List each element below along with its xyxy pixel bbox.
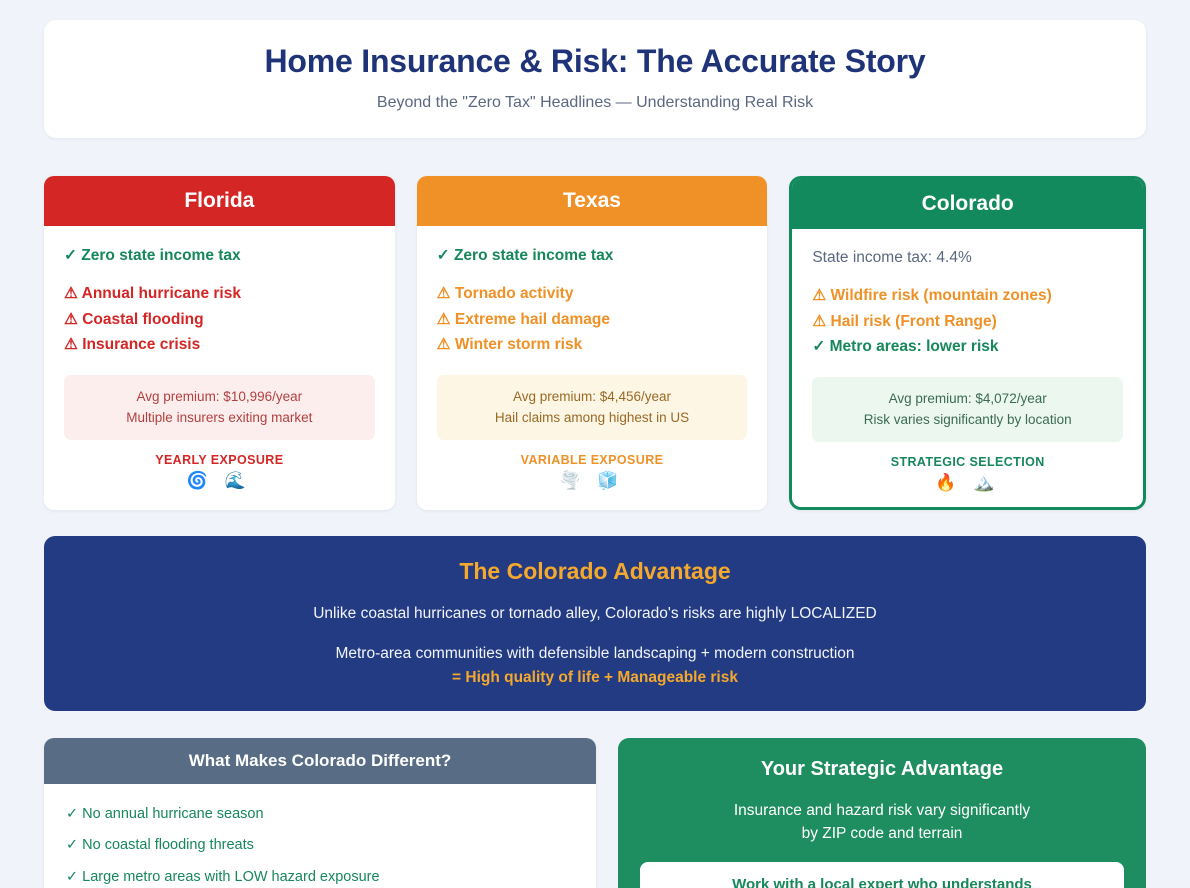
- list-item: ✓ No annual hurricane season: [66, 799, 574, 830]
- risk-item: ⚠ Extreme hail damage: [437, 307, 748, 332]
- difference-panel-title: What Makes Colorado Different?: [44, 738, 596, 784]
- premium-note: Hail claims among highest in US: [447, 407, 738, 429]
- infographic-page: Home Insurance & Risk: The Accurate Stor…: [0, 0, 1190, 888]
- cta-callout-line-1: Work with a local expert who understands: [654, 874, 1110, 888]
- bottom-panels-row: What Makes Colorado Different? ✓ No annu…: [44, 738, 1146, 888]
- premium-note: Multiple insurers exiting market: [74, 407, 365, 429]
- premium-amount: Avg premium: $10,996/year: [74, 386, 365, 408]
- exposure-icons-florida: 🌀 🌊: [64, 471, 375, 491]
- difference-panel-body: ✓ No annual hurricane season ✓ No coasta…: [44, 784, 596, 888]
- state-comparison-row: Florida ✓ Zero state income tax ⚠ Annual…: [44, 176, 1146, 510]
- list-item: ✓ No coastal flooding threats: [66, 830, 574, 861]
- page-subtitle: Beyond the "Zero Tax" Headlines — Unders…: [64, 94, 1126, 112]
- risk-item: ⚠ Tornado activity: [437, 281, 748, 306]
- state-card-texas: Texas ✓ Zero state income tax ⚠ Tornado …: [417, 176, 768, 510]
- cta-callout-box[interactable]: Work with a local expert who understands…: [640, 862, 1124, 888]
- exposure-icons-colorado: 🔥 🏔️: [812, 473, 1123, 493]
- state-card-florida: Florida ✓ Zero state income tax ⚠ Annual…: [44, 176, 395, 510]
- state-card-title-colorado: Colorado: [792, 179, 1143, 229]
- premium-box-florida: Avg premium: $10,996/year Multiple insur…: [64, 375, 375, 440]
- risk-item: ⚠ Hail risk (Front Range): [812, 309, 1123, 334]
- risk-item: ⚠ Wildfire risk (mountain zones): [812, 283, 1123, 308]
- cta-subtitle-line-2: by ZIP code and terrain: [640, 823, 1124, 846]
- cta-subtitle-line-1: Insurance and hazard risk vary significa…: [640, 800, 1124, 823]
- exposure-icons-texas: 🌪️ 🧊: [437, 471, 748, 491]
- tax-line-florida: ✓ Zero state income tax: [64, 246, 375, 265]
- risk-item: ⚠ Insurance crisis: [64, 332, 375, 357]
- tax-line-colorado: State income tax: 4.4%: [812, 249, 1123, 267]
- advantage-line-1: Unlike coastal hurricanes or tornado all…: [64, 605, 1126, 623]
- strategic-advantage-panel: Your Strategic Advantage Insurance and h…: [618, 738, 1146, 888]
- header-banner: Home Insurance & Risk: The Accurate Stor…: [44, 20, 1146, 138]
- difference-panel: What Makes Colorado Different? ✓ No annu…: [44, 738, 596, 888]
- state-card-body-texas: ✓ Zero state income tax ⚠ Tornado activi…: [417, 226, 768, 510]
- risk-item: ⚠ Annual hurricane risk: [64, 281, 375, 306]
- risk-item: ✓ Metro areas: lower risk: [812, 334, 1123, 359]
- risk-item: ⚠ Winter storm risk: [437, 332, 748, 357]
- premium-note: Risk varies significantly by location: [822, 409, 1113, 431]
- risk-list-florida: ⚠ Annual hurricane risk ⚠ Coastal floodi…: [64, 281, 375, 356]
- premium-box-texas: Avg premium: $4,456/year Hail claims amo…: [437, 375, 748, 440]
- premium-amount: Avg premium: $4,072/year: [822, 388, 1113, 410]
- state-card-title-florida: Florida: [44, 176, 395, 226]
- colorado-advantage-banner: The Colorado Advantage Unlike coastal hu…: [44, 536, 1146, 711]
- exposure-label-colorado: STRATEGIC SELECTION: [812, 455, 1123, 469]
- page-title: Home Insurance & Risk: The Accurate Stor…: [64, 42, 1126, 80]
- state-card-body-colorado: State income tax: 4.4% ⚠ Wildfire risk (…: [792, 229, 1143, 507]
- state-card-colorado: Colorado State income tax: 4.4% ⚠ Wildfi…: [789, 176, 1146, 510]
- risk-item: ⚠ Coastal flooding: [64, 307, 375, 332]
- state-card-title-texas: Texas: [417, 176, 768, 226]
- exposure-label-florida: YEARLY EXPOSURE: [64, 453, 375, 467]
- advantage-title: The Colorado Advantage: [64, 558, 1126, 585]
- premium-amount: Avg premium: $4,456/year: [447, 386, 738, 408]
- cta-subtitle: Insurance and hazard risk vary significa…: [640, 800, 1124, 846]
- risk-list-texas: ⚠ Tornado activity ⚠ Extreme hail damage…: [437, 281, 748, 356]
- advantage-line-2: Metro-area communities with defensible l…: [64, 645, 1126, 663]
- list-item: ✓ Large metro areas with LOW hazard expo…: [66, 862, 574, 888]
- advantage-kicker: = High quality of life + Manageable risk: [64, 669, 1126, 687]
- cta-title: Your Strategic Advantage: [640, 758, 1124, 781]
- tax-line-texas: ✓ Zero state income tax: [437, 246, 748, 265]
- state-card-body-florida: ✓ Zero state income tax ⚠ Annual hurrica…: [44, 226, 395, 510]
- premium-box-colorado: Avg premium: $4,072/year Risk varies sig…: [812, 377, 1123, 442]
- exposure-label-texas: VARIABLE EXPOSURE: [437, 453, 748, 467]
- risk-list-colorado: ⚠ Wildfire risk (mountain zones) ⚠ Hail …: [812, 283, 1123, 358]
